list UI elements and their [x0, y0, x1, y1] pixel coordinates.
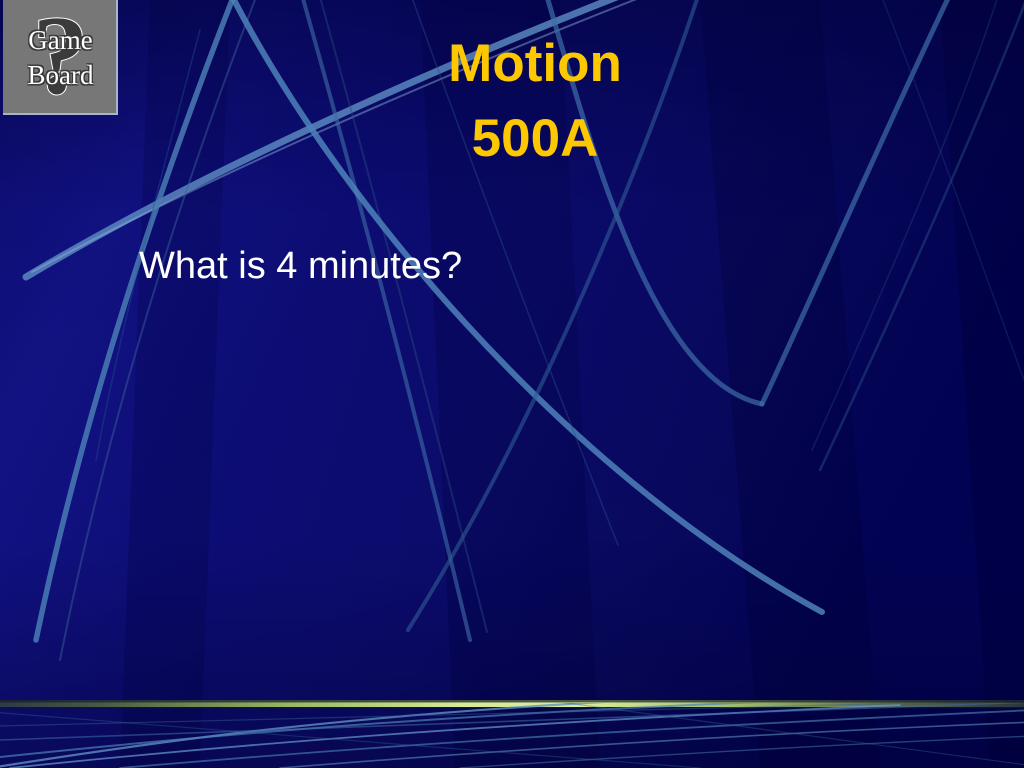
slide-title-line-1: Motion [140, 26, 930, 101]
game-board-label-line-1: Game [28, 23, 92, 58]
slide-body-text: What is 4 minutes? [139, 246, 462, 288]
slide-title-line-2: 500A [140, 101, 930, 176]
game-board-button-label: Game Board [3, 0, 118, 115]
game-board-button[interactable]: ? Game Board [3, 0, 118, 115]
slide-title: Motion 500A [140, 26, 930, 177]
presentation-slide: ? Game Board Motion 500A What is 4 minut… [0, 0, 1024, 768]
game-board-label-line-2: Board [28, 58, 94, 93]
